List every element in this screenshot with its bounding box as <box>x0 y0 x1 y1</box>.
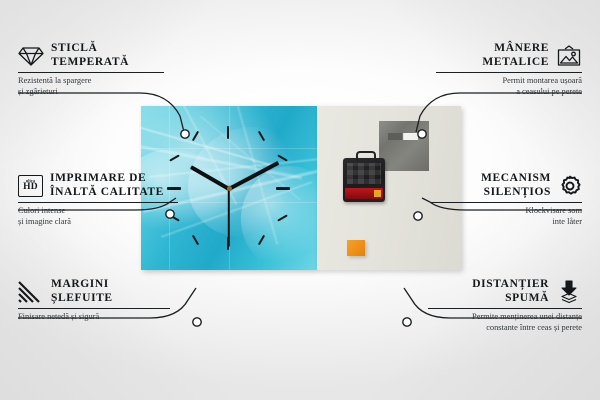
infographic-canvas: STICLĂ TEMPERATĂ Rezistentă la spargere … <box>0 0 600 400</box>
callout-title: MÂNERE METALICE <box>482 42 549 69</box>
callout-subtitle: Rezistentă la spargere <box>18 76 164 87</box>
callout-subtitle: Klockvisare som <box>430 206 582 217</box>
callout-title: MECANISM SILENȚIOS <box>481 172 551 199</box>
callout-tempered-glass: STICLĂ TEMPERATĂ Rezistentă la spargere … <box>18 42 164 97</box>
callout-subtitle: a ceasului pe perete <box>436 87 582 98</box>
mechanism-texture <box>347 163 381 184</box>
callout-divider <box>18 202 178 203</box>
callout-title: MARGINI ȘLEFUITE <box>51 278 113 305</box>
callout-header: STICLĂ TEMPERATĂ <box>18 42 164 69</box>
callout-divider <box>436 72 582 73</box>
down-arrow-stack-icon <box>556 280 582 304</box>
diagonal-lines-icon <box>18 281 44 303</box>
callout-header: MÂNERE METALICE <box>436 42 582 69</box>
callout-silent-mechanism: MECANISM SILENȚIOS Klockvisare som inte … <box>430 172 582 227</box>
callout-header: ultra HD IMPRIMARE DE ÎNALTĂ CALITATE <box>18 172 178 199</box>
clock-second-hand <box>228 189 230 247</box>
picture-frame-icon <box>556 45 582 67</box>
callout-subtitle: constante între ceas și perete <box>428 323 582 334</box>
foam-spacer <box>347 240 365 256</box>
product-image <box>141 106 461 270</box>
connector-dot-foam-spacer <box>403 318 411 326</box>
callout-header: MARGINI ȘLEFUITE <box>18 278 170 305</box>
glass-seam <box>141 148 317 149</box>
diamond-icon <box>18 45 44 67</box>
callout-subtitle: Finisare netedă și sigură <box>18 312 170 323</box>
callout-title: DISTANȚIER SPUMĂ <box>472 278 549 305</box>
clock-tick <box>227 126 229 139</box>
battery <box>345 188 383 199</box>
callout-subtitle: și zgârieturi <box>18 87 164 98</box>
mechanism-hook <box>356 151 376 161</box>
callout-divider <box>18 308 170 309</box>
callout-divider <box>430 202 582 203</box>
clock-center-pin <box>227 186 232 191</box>
callout-subtitle: Permite menținerea unei distanțe <box>428 312 582 323</box>
callout-subtitle: Culori intense <box>18 206 178 217</box>
metal-hanger <box>379 121 429 171</box>
callout-subtitle: Permit montarea ușoară <box>436 76 582 87</box>
callout-divider <box>428 308 582 309</box>
callout-title: IMPRIMARE DE ÎNALTĂ CALITATE <box>50 172 164 199</box>
ultra-hd-icon: ultra HD <box>18 175 43 197</box>
callout-print-quality: ultra HD IMPRIMARE DE ÎNALTĂ CALITATE Cu… <box>18 172 178 227</box>
callout-divider <box>18 72 164 73</box>
callout-subtitle: și imagine clară <box>18 217 178 228</box>
battery-plus-terminal <box>374 190 381 197</box>
callout-header: MECANISM SILENȚIOS <box>430 172 582 199</box>
callout-title: STICLĂ TEMPERATĂ <box>51 42 129 69</box>
clock-mechanism <box>343 158 385 202</box>
clock-tick <box>276 187 290 190</box>
callout-header: DISTANȚIER SPUMĂ <box>428 278 582 305</box>
hanger-slot <box>388 133 418 140</box>
connector-dot-polished-edges <box>193 318 201 326</box>
callout-polished-edges: MARGINI ȘLEFUITE Finisare netedă și sigu… <box>18 278 170 323</box>
callout-foam-spacer: DISTANȚIER SPUMĂ Permite menținerea unei… <box>428 278 582 333</box>
ultra-hd-main-label: HD <box>23 183 38 193</box>
callout-subtitle: inte låter <box>430 217 582 228</box>
callout-metal-handles: MÂNERE METALICE Permit montarea ușoară a… <box>436 42 582 97</box>
gear-icon <box>558 174 582 198</box>
